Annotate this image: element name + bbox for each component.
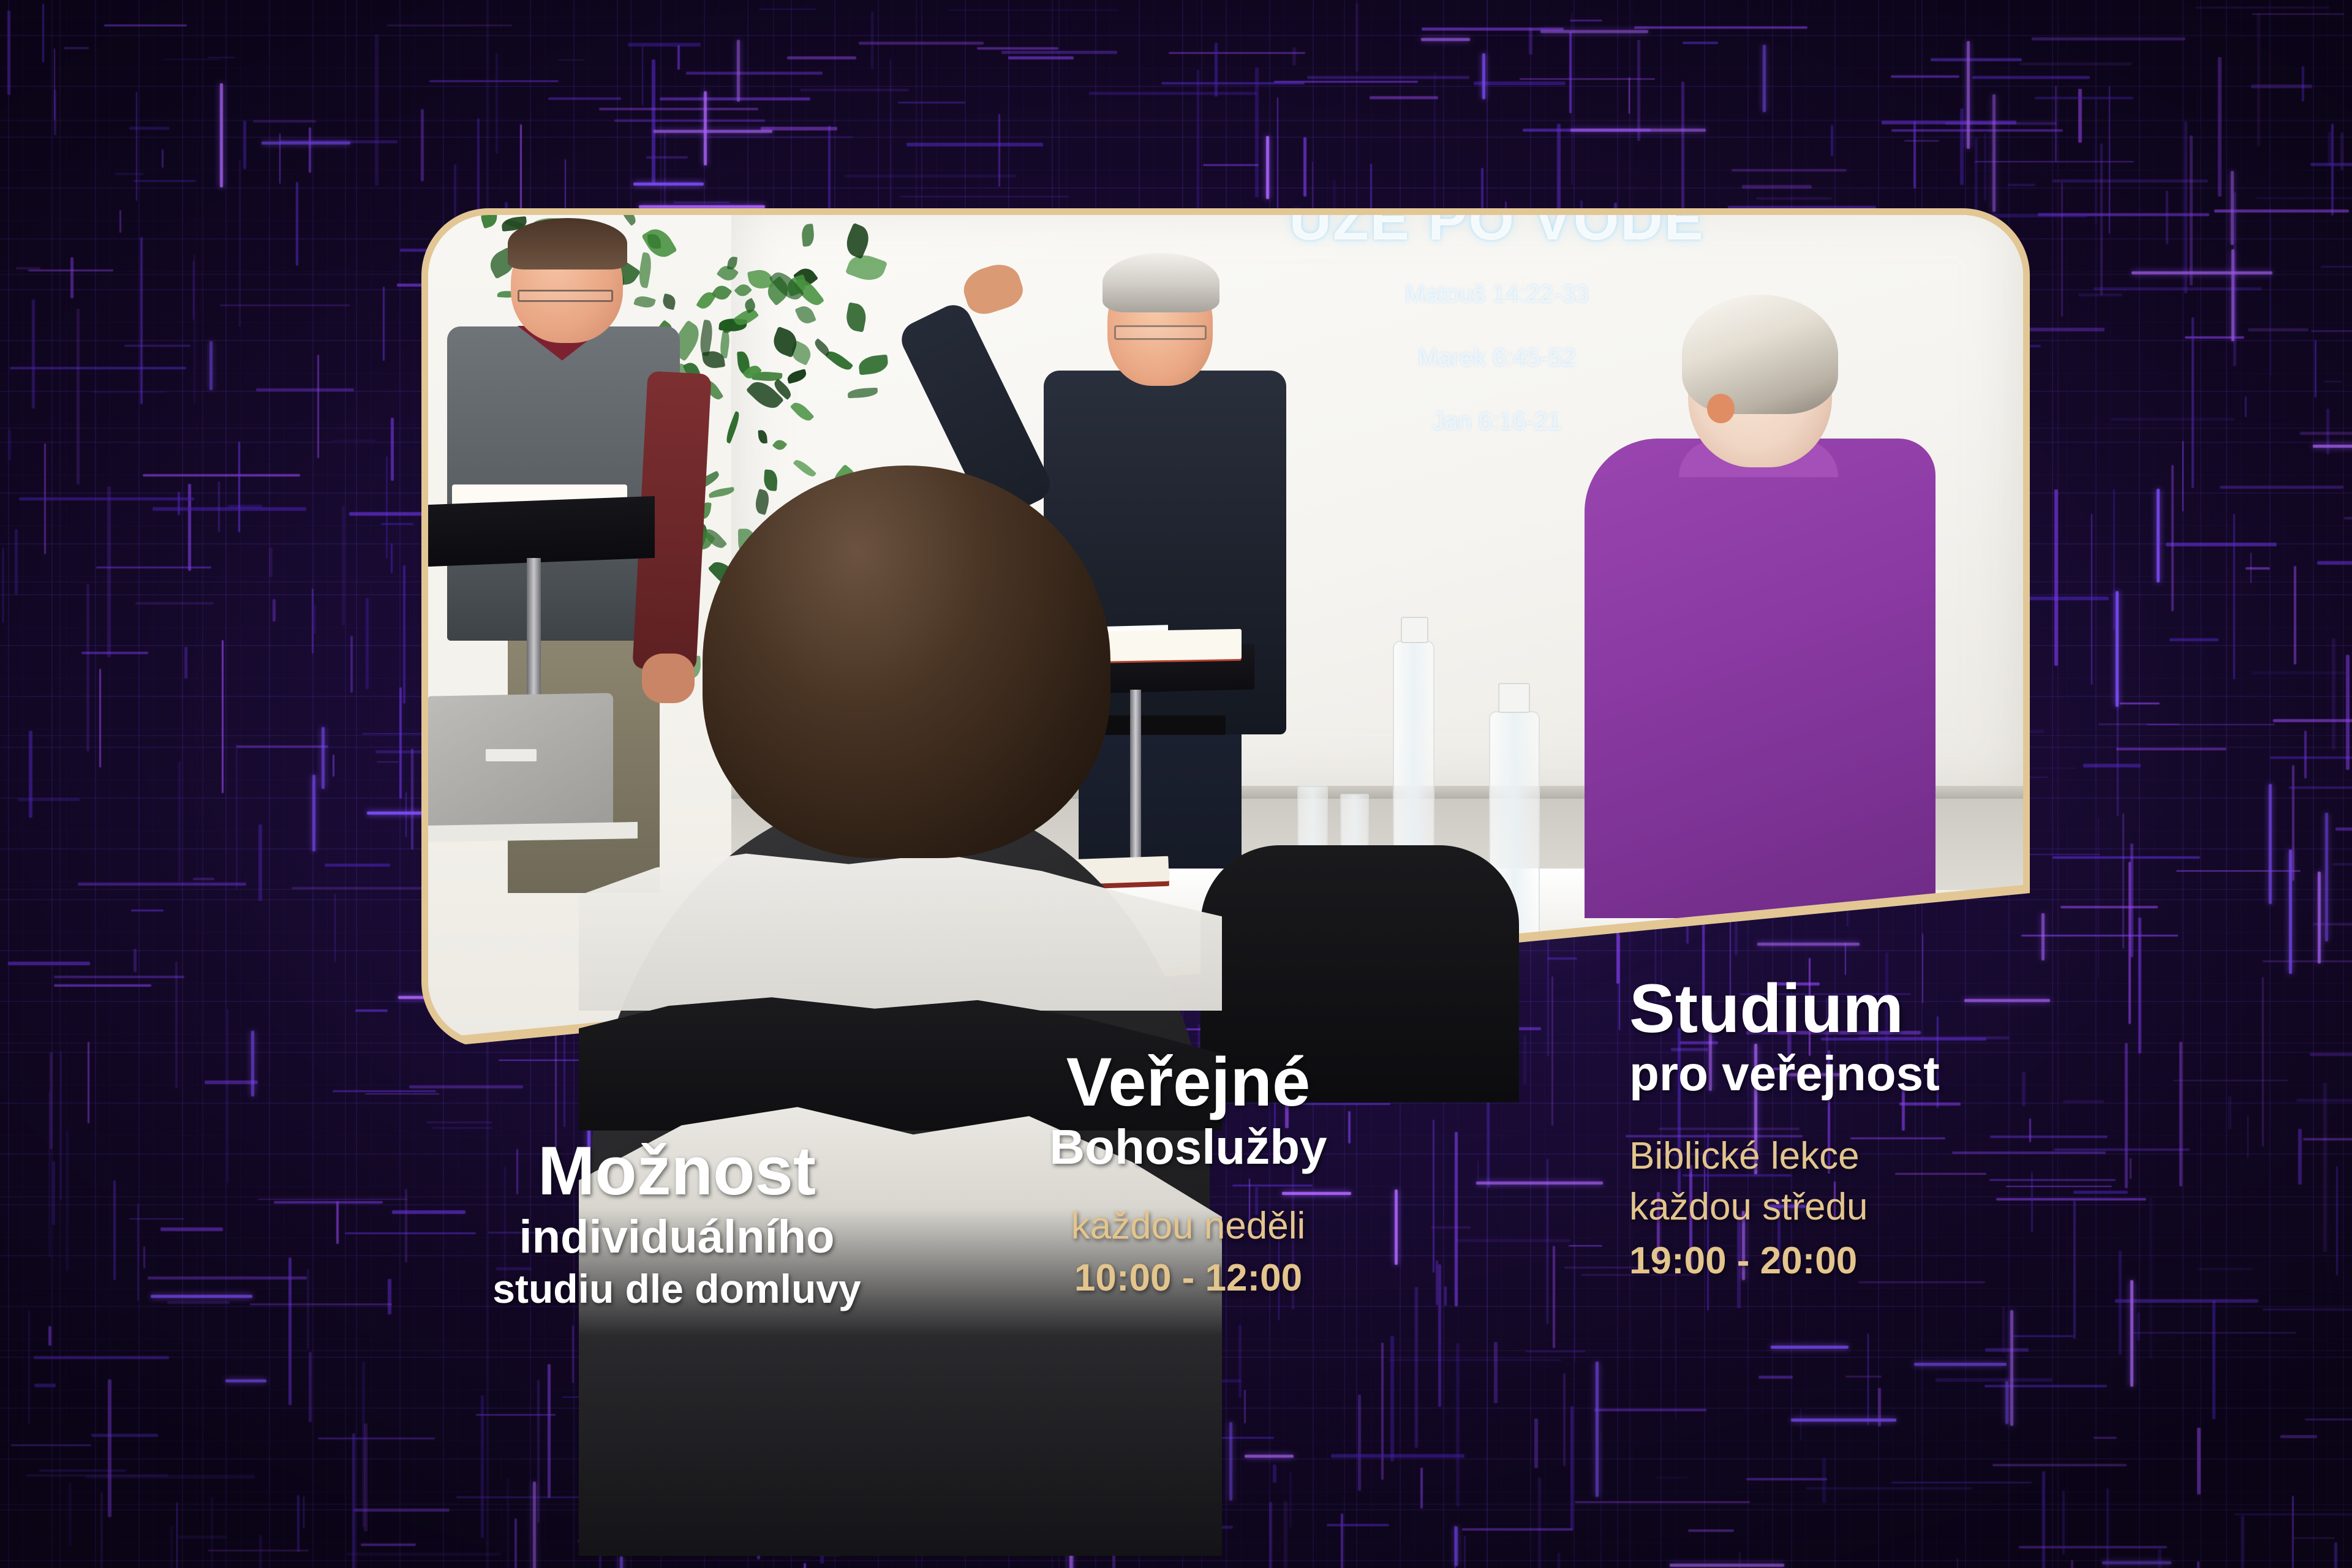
attendee-ear	[1707, 394, 1734, 424]
attendee-hair	[1682, 295, 1838, 415]
col3-detail-1: Biblické lekce	[1629, 1133, 2034, 1180]
reader-hair	[508, 218, 627, 269]
reader-glasses	[518, 290, 613, 302]
col3-detail-2: každou středu	[1629, 1184, 2034, 1231]
col2-time: 10:00 - 12:00	[980, 1255, 1396, 1302]
column-public-study: Studium pro veřejnost Biblické lekce kaž…	[1593, 974, 2034, 1284]
col1-heading: Možnost	[429, 1136, 925, 1206]
speaker-hair	[1102, 253, 1219, 312]
water-bottle	[1393, 641, 1434, 872]
column-individual-study: Možnost individuálního studiu dle domluv…	[429, 1136, 925, 1312]
speaker-glasses	[1114, 325, 1207, 340]
laptop-logo	[486, 749, 537, 761]
col3-subheading: pro veřejnost	[1629, 1046, 2034, 1101]
foreground-attendee	[591, 466, 1210, 1556]
column-public-services: Veřejné Bohoslužby každou neděli 10:00 -…	[980, 1047, 1396, 1302]
col2-heading: Veřejné	[980, 1047, 1396, 1117]
col3-time: 19:00 - 20:00	[1629, 1238, 2034, 1284]
hoodie-stripe-light	[579, 836, 1222, 1011]
col2-subheading: Bohoslužby	[980, 1120, 1396, 1175]
bottle-cap	[1498, 683, 1530, 713]
foreground-attendee-hair	[703, 466, 1111, 858]
attendee-purple-shirt	[1585, 439, 1936, 918]
col3-heading: Studium	[1629, 974, 2034, 1044]
col1-subheading: individuálního	[429, 1211, 925, 1263]
bottle-cap	[1401, 617, 1428, 643]
col2-frequency: každou neděli	[980, 1203, 1396, 1249]
poster-canvas: ŮZE PO VODĚ Matouš 14:22-33 Marek 6:45-5…	[0, 0, 2352, 1568]
col1-detail: studiu dle domluvy	[429, 1267, 925, 1312]
